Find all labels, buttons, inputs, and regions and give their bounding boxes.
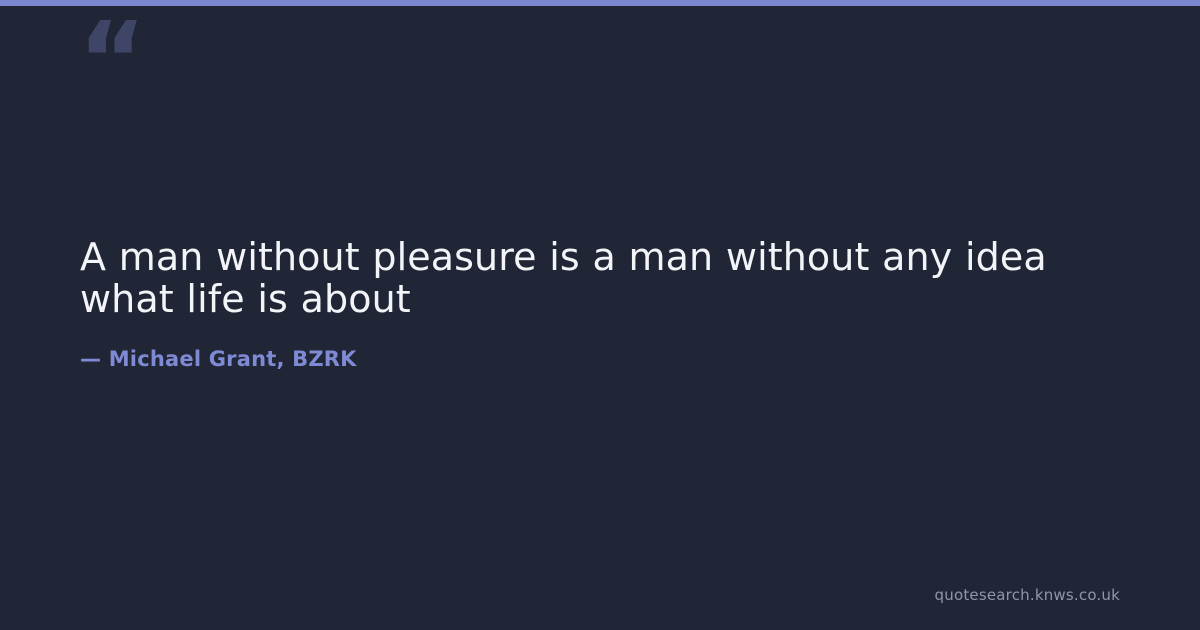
quote-body: A man without pleasure is a man without … [80, 236, 1120, 372]
site-watermark: quotesearch.knws.co.uk [935, 586, 1120, 604]
quote-card: “ A man without pleasure is a man withou… [0, 0, 1200, 630]
quote-attribution: — Michael Grant, BZRK [80, 320, 1120, 372]
quote-text: A man without pleasure is a man without … [80, 236, 1120, 320]
quotation-mark-icon: “ [78, 8, 144, 112]
top-accent-bar [0, 0, 1200, 6]
